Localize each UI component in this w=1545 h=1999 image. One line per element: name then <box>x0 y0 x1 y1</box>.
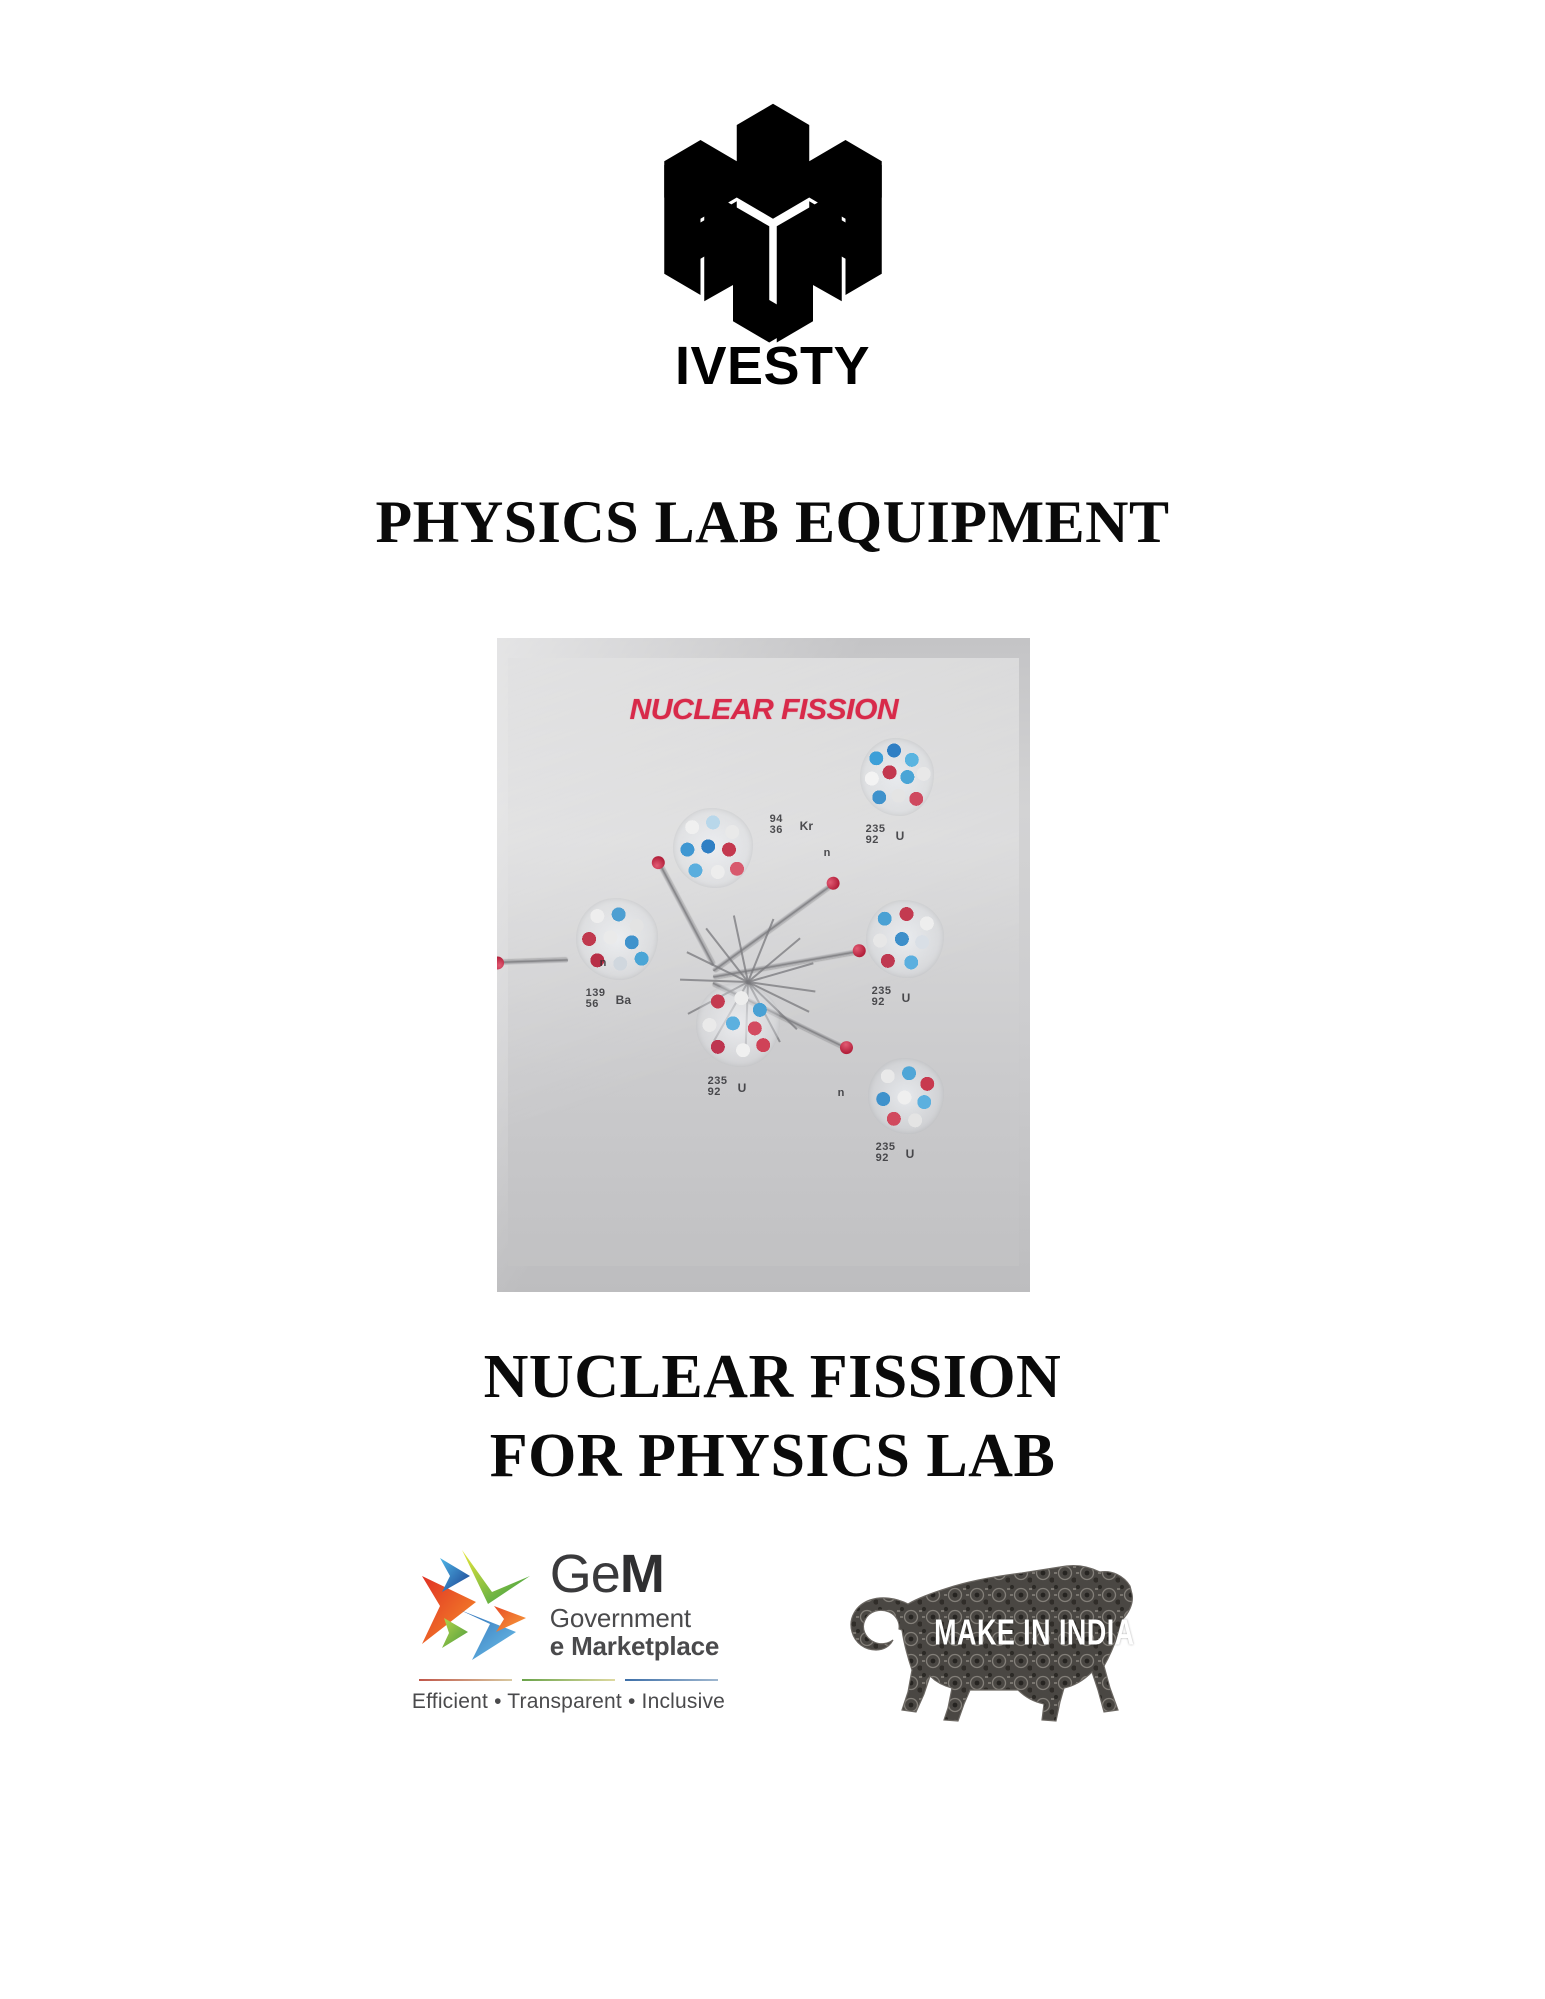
bead-cluster <box>696 983 780 1067</box>
product-subtitle-line2: FOR PHYSICS LAB <box>0 1417 1545 1496</box>
nucleus-ba139 <box>696 983 780 1067</box>
gem-logo: GeM Government e Marketplace Efficient •… <box>404 1540 734 1714</box>
bead-cluster <box>866 900 944 978</box>
neutron-label-2: n <box>824 848 831 860</box>
gem-wordmark-bold: M <box>620 1544 664 1604</box>
gem-sub-line2: e Marketplace <box>550 1633 719 1659</box>
gem-wordmark-light: Ge <box>550 1544 620 1604</box>
atom-label-2: 94 36 Kr <box>770 814 783 837</box>
nucleus-kr94 <box>673 808 753 888</box>
product-subtitle-line1: NUCLEAR FISSION <box>0 1338 1545 1417</box>
atom-label-1: 235 92 U <box>866 824 886 847</box>
nucleus-u235-right <box>866 900 944 978</box>
gem-rule-red <box>419 1679 512 1681</box>
neutron-label-3: n <box>838 1088 845 1100</box>
make-in-india-text: MAKE IN INDIA <box>934 1613 1134 1654</box>
brand-name: IVESTY <box>675 339 870 393</box>
gem-star-icon <box>418 1540 538 1665</box>
gem-rule-group <box>419 1679 719 1681</box>
gem-tagline: Efficient • Transparent • Inclusive <box>412 1690 725 1714</box>
atom-label-5: 235 92 U <box>708 1076 728 1099</box>
document-page: IVESTY PHYSICS LAB EQUIPMENT NUCLEAR FIS… <box>0 0 1545 1999</box>
product-photo: NUCLEAR FISSION <box>497 638 1030 1292</box>
photo-backdrop: NUCLEAR FISSION <box>497 638 1030 1292</box>
rod-5 <box>497 958 568 966</box>
isometric-cube-cross-icon <box>644 100 902 345</box>
atom-label-4: 235 92 U <box>872 986 892 1009</box>
neutron-label: n <box>600 958 607 970</box>
model-board: NUCLEAR FISSION <box>508 658 1020 1266</box>
nucleus-u235-upper-right <box>860 738 934 816</box>
bead-cluster <box>576 898 658 980</box>
gem-wordmark: GeM <box>550 1547 719 1601</box>
nucleus-u235-left <box>576 898 658 980</box>
gem-logo-top: GeM Government e Marketplace <box>418 1540 719 1665</box>
make-in-india-logo: MAKE IN INDIA <box>812 1540 1142 1740</box>
nucleus-u235-lower-right <box>868 1058 944 1134</box>
gem-rule-green <box>522 1679 615 1681</box>
photo-caption: NUCLEAR FISSION <box>497 694 1029 727</box>
bead-cluster <box>860 738 934 816</box>
gem-sub-line1: Government <box>550 1605 719 1631</box>
brand-block: IVESTY <box>0 100 1545 393</box>
bead-cluster <box>868 1058 944 1134</box>
gem-wordmark-block: GeM Government e Marketplace <box>550 1547 719 1659</box>
atom-label-3: 139 56 Ba <box>586 988 606 1011</box>
bead-cluster <box>673 808 753 888</box>
atom-label-6: 235 92 U <box>876 1142 896 1165</box>
product-subtitle: NUCLEAR FISSION FOR PHYSICS LAB <box>0 1338 1545 1497</box>
page-title: PHYSICS LAB EQUIPMENT <box>0 489 1545 555</box>
footer-logos: GeM Government e Marketplace Efficient •… <box>0 1540 1545 1740</box>
gem-rule-blue <box>625 1679 718 1681</box>
